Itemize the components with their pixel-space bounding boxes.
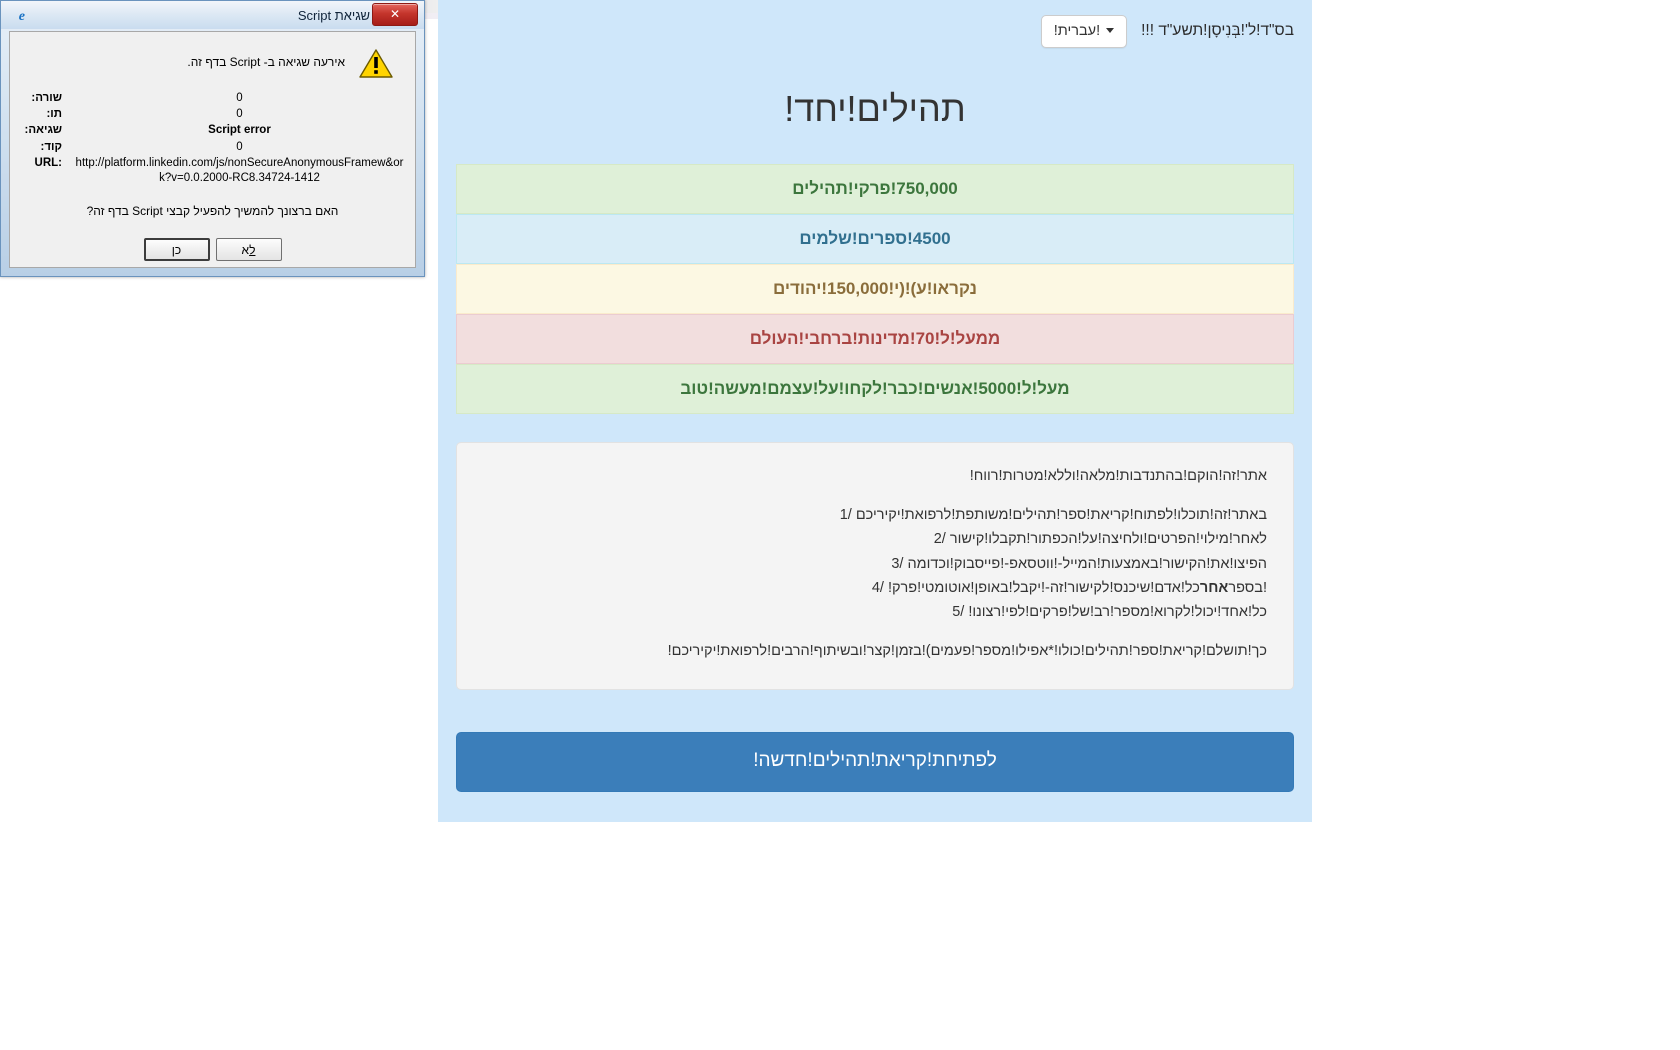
list-item-text: כל!אחד!יכול!לקרוא!מספר!רב!של!פרקים!לפי!ר… <box>968 604 1267 620</box>
language-selector[interactable]: !עברית! <box>1041 15 1127 48</box>
error-field-label: קוד: <box>20 140 62 155</box>
error-field-value: 0 <box>62 107 405 122</box>
cta-wrapper: לפתיחת!קריאת!תהילים!חדשה! <box>456 732 1294 792</box>
stat-row: ממעל!ל!70!מדינות!ברחבי!העולם <box>456 314 1294 364</box>
open-new-tehillim-reading-button[interactable]: לפתיחת!קריאת!תהילים!חדשה! <box>456 732 1294 792</box>
list-item: כל!אחד!יכול!לקרוא!מספר!רב!של!פרקים!לפי!ר… <box>483 601 1267 624</box>
list-item-text: הפיצו!את!הקישור!באמצעות!המייל-!ווטסאפ-!פ… <box>907 556 1267 572</box>
dialog-body: אירעה שגיאה ב- Script בדף זה. 0 שורה: 0 … <box>9 31 416 268</box>
error-field-label: שורה: <box>20 91 62 106</box>
dialog-titlebar[interactable]: ✕ שגיאת Script e <box>1 1 424 29</box>
dialog-title: שגיאת Script <box>25 8 372 23</box>
list-item-text: באתר!זה!תוכלו!לפתוח!קריאת!ספר!תהילים!משו… <box>856 507 1267 523</box>
stat-row: 750,000!פרקי!תהילים <box>456 164 1294 214</box>
dialog-question: האם ברצונך להמשיך להפעיל קבצי Script בדף… <box>10 204 415 218</box>
error-field-row: 0 קוד: <box>20 140 405 155</box>
error-field-value: 0 <box>62 91 405 106</box>
error-field-row: 0 שורה: <box>20 91 405 106</box>
browser-page-content: בס"ד!ל'!בְּנִיסָן!תשע"ד !!! !עברית! תהיל… <box>438 0 1312 822</box>
list-item: הפיצו!את!הקישור!באמצעות!המייל-!ווטסאפ-!פ… <box>483 553 1267 576</box>
list-item-text: לאחר!מילוי!הפרטים!ולחיצה!על!הכפתור!תקבלו… <box>950 531 1267 547</box>
error-field-row: 0 תו: <box>20 107 405 122</box>
error-field-label: URL: <box>20 156 62 171</box>
list-item-number: 2/ <box>924 528 946 551</box>
no-button-mnemonic: ל <box>249 243 255 257</box>
list-item: !בספראחרכל!אדם!שיכנס!לקישור!זה-!יקבל!באו… <box>483 577 1267 600</box>
script-error-dialog[interactable]: ✕ שגיאת Script e אירעה שגיאה ב- Script ב… <box>0 0 425 277</box>
list-item-number: 4/ <box>862 577 884 600</box>
error-field-label: תו: <box>20 107 62 122</box>
stat-row: נקראו!ע)!(י!150,000!יהודים <box>456 264 1294 314</box>
list-item-number: 1/ <box>830 504 852 527</box>
error-field-value-url: http://platform.linkedin.com/js/nonSecur… <box>62 156 405 186</box>
dialog-message: אירעה שגיאה ב- Script בדף זה. <box>32 46 345 69</box>
hebrew-date-text: בס"ד!ל'!בְּנִיסָן!תשע"ד !!! <box>1141 23 1294 39</box>
stat-row: 4500!ספרים!שלמים <box>456 214 1294 264</box>
internet-explorer-icon: e <box>9 7 25 23</box>
no-button-rest: א <box>242 243 250 257</box>
error-field-row: http://platform.linkedin.com/js/nonSecur… <box>20 156 405 186</box>
list-item-emphasis: אחר <box>1200 580 1228 596</box>
statistics-list: 750,000!פרקי!תהילים 4500!ספרים!שלמים נקר… <box>456 164 1294 414</box>
error-field-value: Script error <box>62 123 405 138</box>
error-field-label: שגיאה: <box>20 123 62 138</box>
info-footer-text: כך!תושלם!קריאת!ספר!תהילים!כולו!*אפילו!מס… <box>483 640 1267 663</box>
yes-button[interactable]: כן <box>144 238 210 261</box>
list-item-number: 5/ <box>942 601 964 624</box>
list-item: באתר!זה!תוכלו!לפתוח!קריאת!ספר!תהילים!משו… <box>483 504 1267 527</box>
no-button[interactable]: לא <box>216 238 282 261</box>
close-icon[interactable]: ✕ <box>372 3 418 26</box>
info-lead-text: אתר!זה!הוקם!בהתנדבות!מלאה!וללא!מטרות!רוו… <box>483 465 1267 488</box>
list-item: לאחר!מילוי!הפרטים!ולחיצה!על!הכפתור!תקבלו… <box>483 528 1267 551</box>
error-field-row: Script error שגיאה: <box>20 123 405 138</box>
page-title: תהילים!יחד! <box>438 88 1312 130</box>
stat-row: מעל!ל!5000!אנשים!כבר!לקחו!על!עצמם!מעשה!ט… <box>456 364 1294 414</box>
dialog-buttons: לא כן <box>10 238 415 261</box>
error-field-value: 0 <box>62 140 405 155</box>
list-item-number: 3/ <box>881 553 903 576</box>
list-item-text-after: !בספר <box>1228 580 1267 596</box>
info-panel: אתר!זה!הוקם!בהתנדבות!מלאה!וללא!מטרות!רוו… <box>456 442 1294 690</box>
info-steps-list: באתר!זה!תוכלו!לפתוח!קריאת!ספר!תהילים!משו… <box>483 504 1267 624</box>
site-header: בס"ד!ל'!בְּנִיסָן!תשע"ד !!! !עברית! <box>438 0 1312 62</box>
language-selector-label: !עברית! <box>1054 23 1100 39</box>
error-fields: 0 שורה: 0 תו: Script error שגיאה: 0 קוד:… <box>20 91 405 186</box>
warning-triangle-icon <box>359 48 393 79</box>
list-item-text-before: כל!אדם!שיכנס!לקישור!זה-!יקבל!באופן!אוטומ… <box>888 580 1200 596</box>
chevron-down-icon <box>1106 28 1114 33</box>
dialog-message-row: אירעה שגיאה ב- Script בדף זה. <box>10 32 415 79</box>
